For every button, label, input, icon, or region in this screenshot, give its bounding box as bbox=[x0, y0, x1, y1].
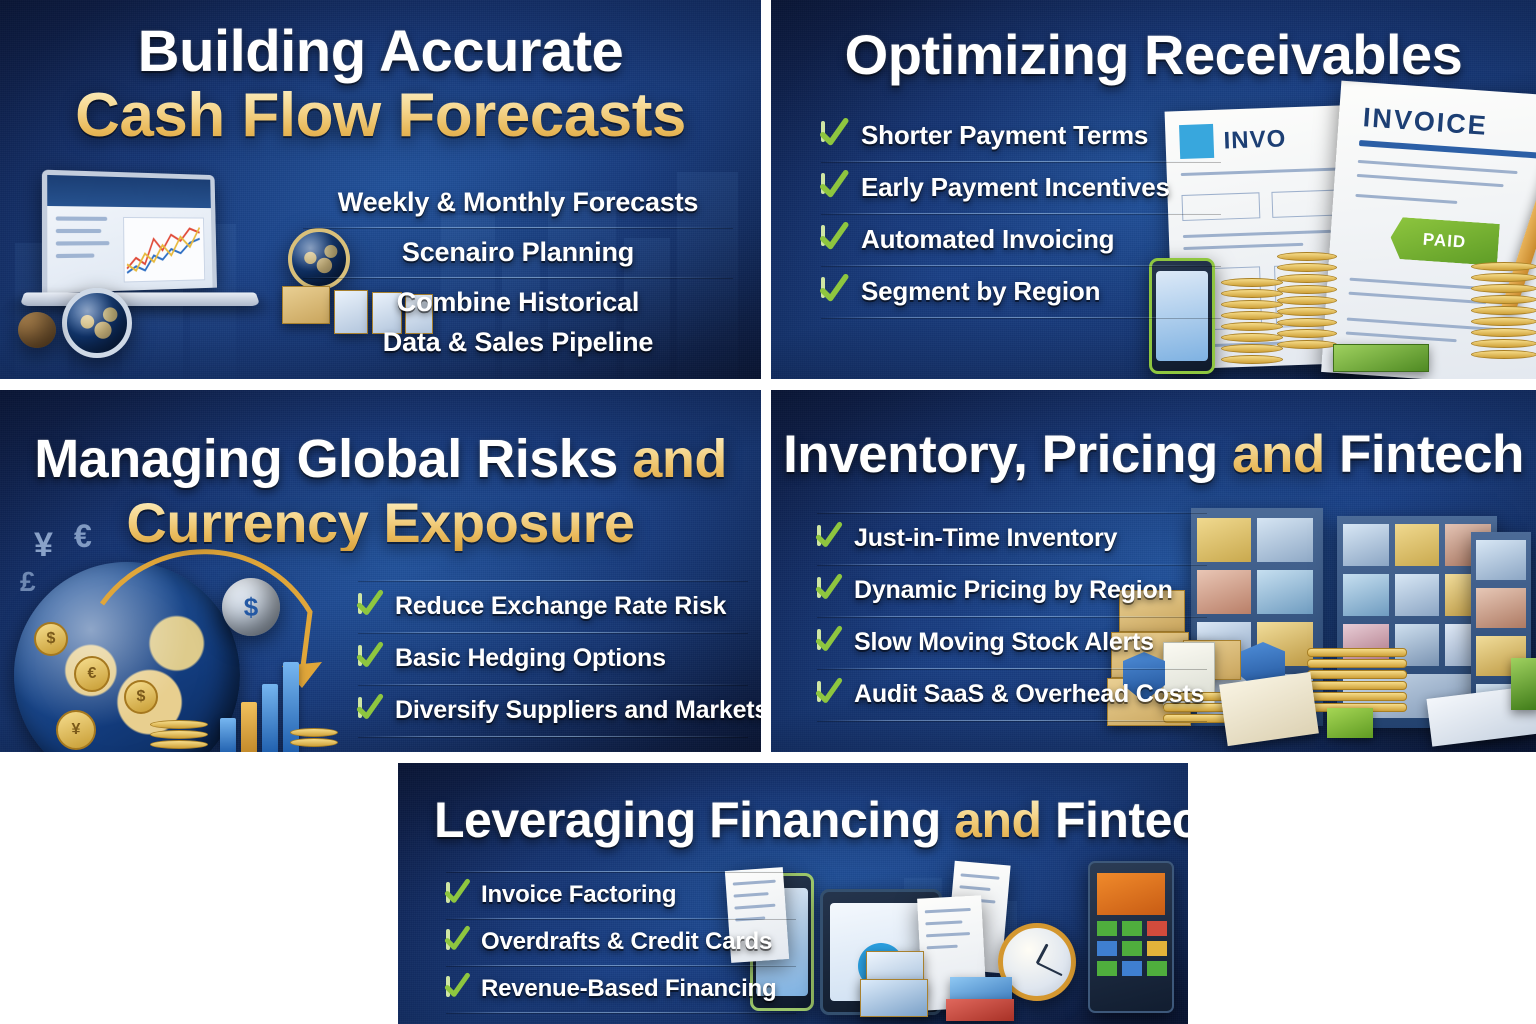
bullet-item: Diversify Suppliers and Markets bbox=[358, 685, 748, 736]
checkmark-icon bbox=[821, 123, 846, 148]
title-segment-gold: and bbox=[954, 792, 1041, 848]
checkmark-icon bbox=[358, 595, 381, 618]
checkmark-icon bbox=[358, 647, 381, 670]
panel-inventory-pricing-fintech: Inventory, Pricing and Fintech Just-in-T… bbox=[771, 390, 1536, 752]
bullet-label: Weekly & Monthly Forecasts bbox=[338, 187, 698, 217]
bullet-item: Basic Hedging Options bbox=[358, 633, 748, 684]
bullet-item: Automated Invoicing bbox=[821, 214, 1221, 265]
panel-title-line-1: Building Accurate bbox=[138, 22, 624, 81]
bullet-label: Shorter Payment Terms bbox=[861, 120, 1148, 151]
bullet-list: Invoice Factoring Overdrafts & Credit Ca… bbox=[446, 871, 796, 1013]
bullet-label: Data & Sales Pipeline bbox=[383, 327, 653, 357]
bullet-label: Scenairo Planning bbox=[402, 237, 634, 267]
bullet-item: Combine Historical bbox=[303, 278, 733, 327]
bullet-item: Shorter Payment Terms bbox=[821, 110, 1221, 161]
bullet-item: Dynamic Pricing by Region bbox=[817, 565, 1207, 616]
bullet-item: Scenairo Planning bbox=[303, 228, 733, 277]
bullet-label: Automated Invoicing bbox=[861, 224, 1114, 255]
bullet-label: Diversify Suppliers and Markets bbox=[395, 696, 761, 725]
bullet-item: Overdrafts & Credit Cards bbox=[446, 919, 796, 965]
checkmark-icon bbox=[821, 227, 846, 252]
checkmark-icon bbox=[821, 279, 846, 304]
infographic-collage: Building Accurate Cash Flow Forecasts We… bbox=[0, 0, 1536, 1024]
checkmark-icon bbox=[821, 175, 846, 200]
bullet-separator bbox=[446, 1012, 796, 1013]
title-segment-white-2: Fintech bbox=[1042, 792, 1188, 848]
bullet-item: Just-in-Time Inventory bbox=[817, 513, 1207, 564]
bullet-label: Combine Historical bbox=[397, 287, 639, 317]
bullet-item: Invoice Factoring bbox=[446, 872, 796, 918]
panel-title-line-2: Cash Flow Forecasts bbox=[75, 84, 686, 147]
bullet-label: Revenue-Based Financing bbox=[481, 975, 776, 1003]
bullet-label: Segment by Region bbox=[861, 276, 1100, 307]
title-segment-white: Leveraging Financing bbox=[434, 792, 954, 848]
bullet-list: Weekly & Monthly Forecasts Scenairo Plan… bbox=[303, 178, 733, 367]
checkmark-icon bbox=[817, 527, 840, 550]
title-segment-gold: and bbox=[632, 429, 727, 489]
title-segment-white-2: Fintech bbox=[1325, 425, 1524, 484]
bullet-label: Slow Moving Stock Alerts bbox=[854, 628, 1154, 657]
panel-title: Optimizing Receivables bbox=[845, 26, 1463, 83]
panel-title: Leveraging Financing and Fintech bbox=[434, 795, 1188, 846]
checkmark-icon bbox=[358, 699, 381, 722]
panel-title-line-2: Currency Exposure bbox=[126, 494, 634, 551]
panel-cash-flow-forecasts: Building Accurate Cash Flow Forecasts We… bbox=[0, 0, 761, 379]
title-segment-white: Inventory, Pricing bbox=[783, 425, 1232, 484]
bullet-label: Overdrafts & Credit Cards bbox=[481, 928, 772, 956]
title-segment-gold: and bbox=[1232, 425, 1325, 484]
bullet-item: Revenue-Based Financing bbox=[446, 966, 796, 1012]
bullet-list: Shorter Payment Terms Early Payment Ince… bbox=[821, 110, 1221, 318]
bullet-item: Early Payment Incentives bbox=[821, 162, 1221, 213]
checkmark-icon bbox=[817, 683, 840, 706]
bullet-label: Basic Hedging Options bbox=[395, 644, 666, 673]
panel-global-risks-currency: ¥ € £ $ $ € $ ¥ bbox=[0, 390, 761, 752]
checkmark-icon bbox=[446, 931, 468, 953]
panel-financing-fintech: ✔ bbox=[398, 763, 1188, 1024]
panel-title-line-1: Managing Global Risks and bbox=[34, 432, 727, 487]
checkmark-icon bbox=[817, 579, 840, 602]
bullet-item: Reduce Exchange Rate Risk bbox=[358, 581, 748, 632]
title-segment-white: Managing Global Risks bbox=[34, 429, 632, 489]
panel-title: Inventory, Pricing and Fintech bbox=[783, 428, 1524, 482]
checkmark-icon bbox=[446, 978, 468, 1000]
bullet-separator bbox=[817, 720, 1207, 721]
checkmark-icon bbox=[817, 631, 840, 654]
bullet-item: Data & Sales Pipeline bbox=[303, 327, 733, 367]
bullet-separator bbox=[821, 317, 1221, 318]
bullet-item: Slow Moving Stock Alerts bbox=[817, 617, 1207, 668]
bullet-label: Audit SaaS & Overhead Costs bbox=[854, 680, 1204, 709]
bullet-item: Segment by Region bbox=[821, 266, 1221, 317]
bullet-list: Just-in-Time Inventory Dynamic Pricing b… bbox=[817, 512, 1207, 721]
bullet-label: Reduce Exchange Rate Risk bbox=[395, 592, 726, 621]
bullet-item: Audit SaaS & Overhead Costs bbox=[817, 669, 1207, 720]
bullet-list: Reduce Exchange Rate Risk Basic Hedging … bbox=[358, 580, 748, 737]
bullet-separator bbox=[358, 736, 748, 737]
panel-optimizing-receivables: INVO INVOICE PAID bbox=[771, 0, 1536, 379]
bullet-label: Just-in-Time Inventory bbox=[854, 524, 1117, 553]
bullet-label: Early Payment Incentives bbox=[861, 172, 1170, 203]
bullet-item: Weekly & Monthly Forecasts bbox=[303, 178, 733, 227]
bullet-label: Dynamic Pricing by Region bbox=[854, 576, 1173, 605]
checkmark-icon bbox=[446, 884, 468, 906]
bullet-label: Invoice Factoring bbox=[481, 881, 676, 909]
